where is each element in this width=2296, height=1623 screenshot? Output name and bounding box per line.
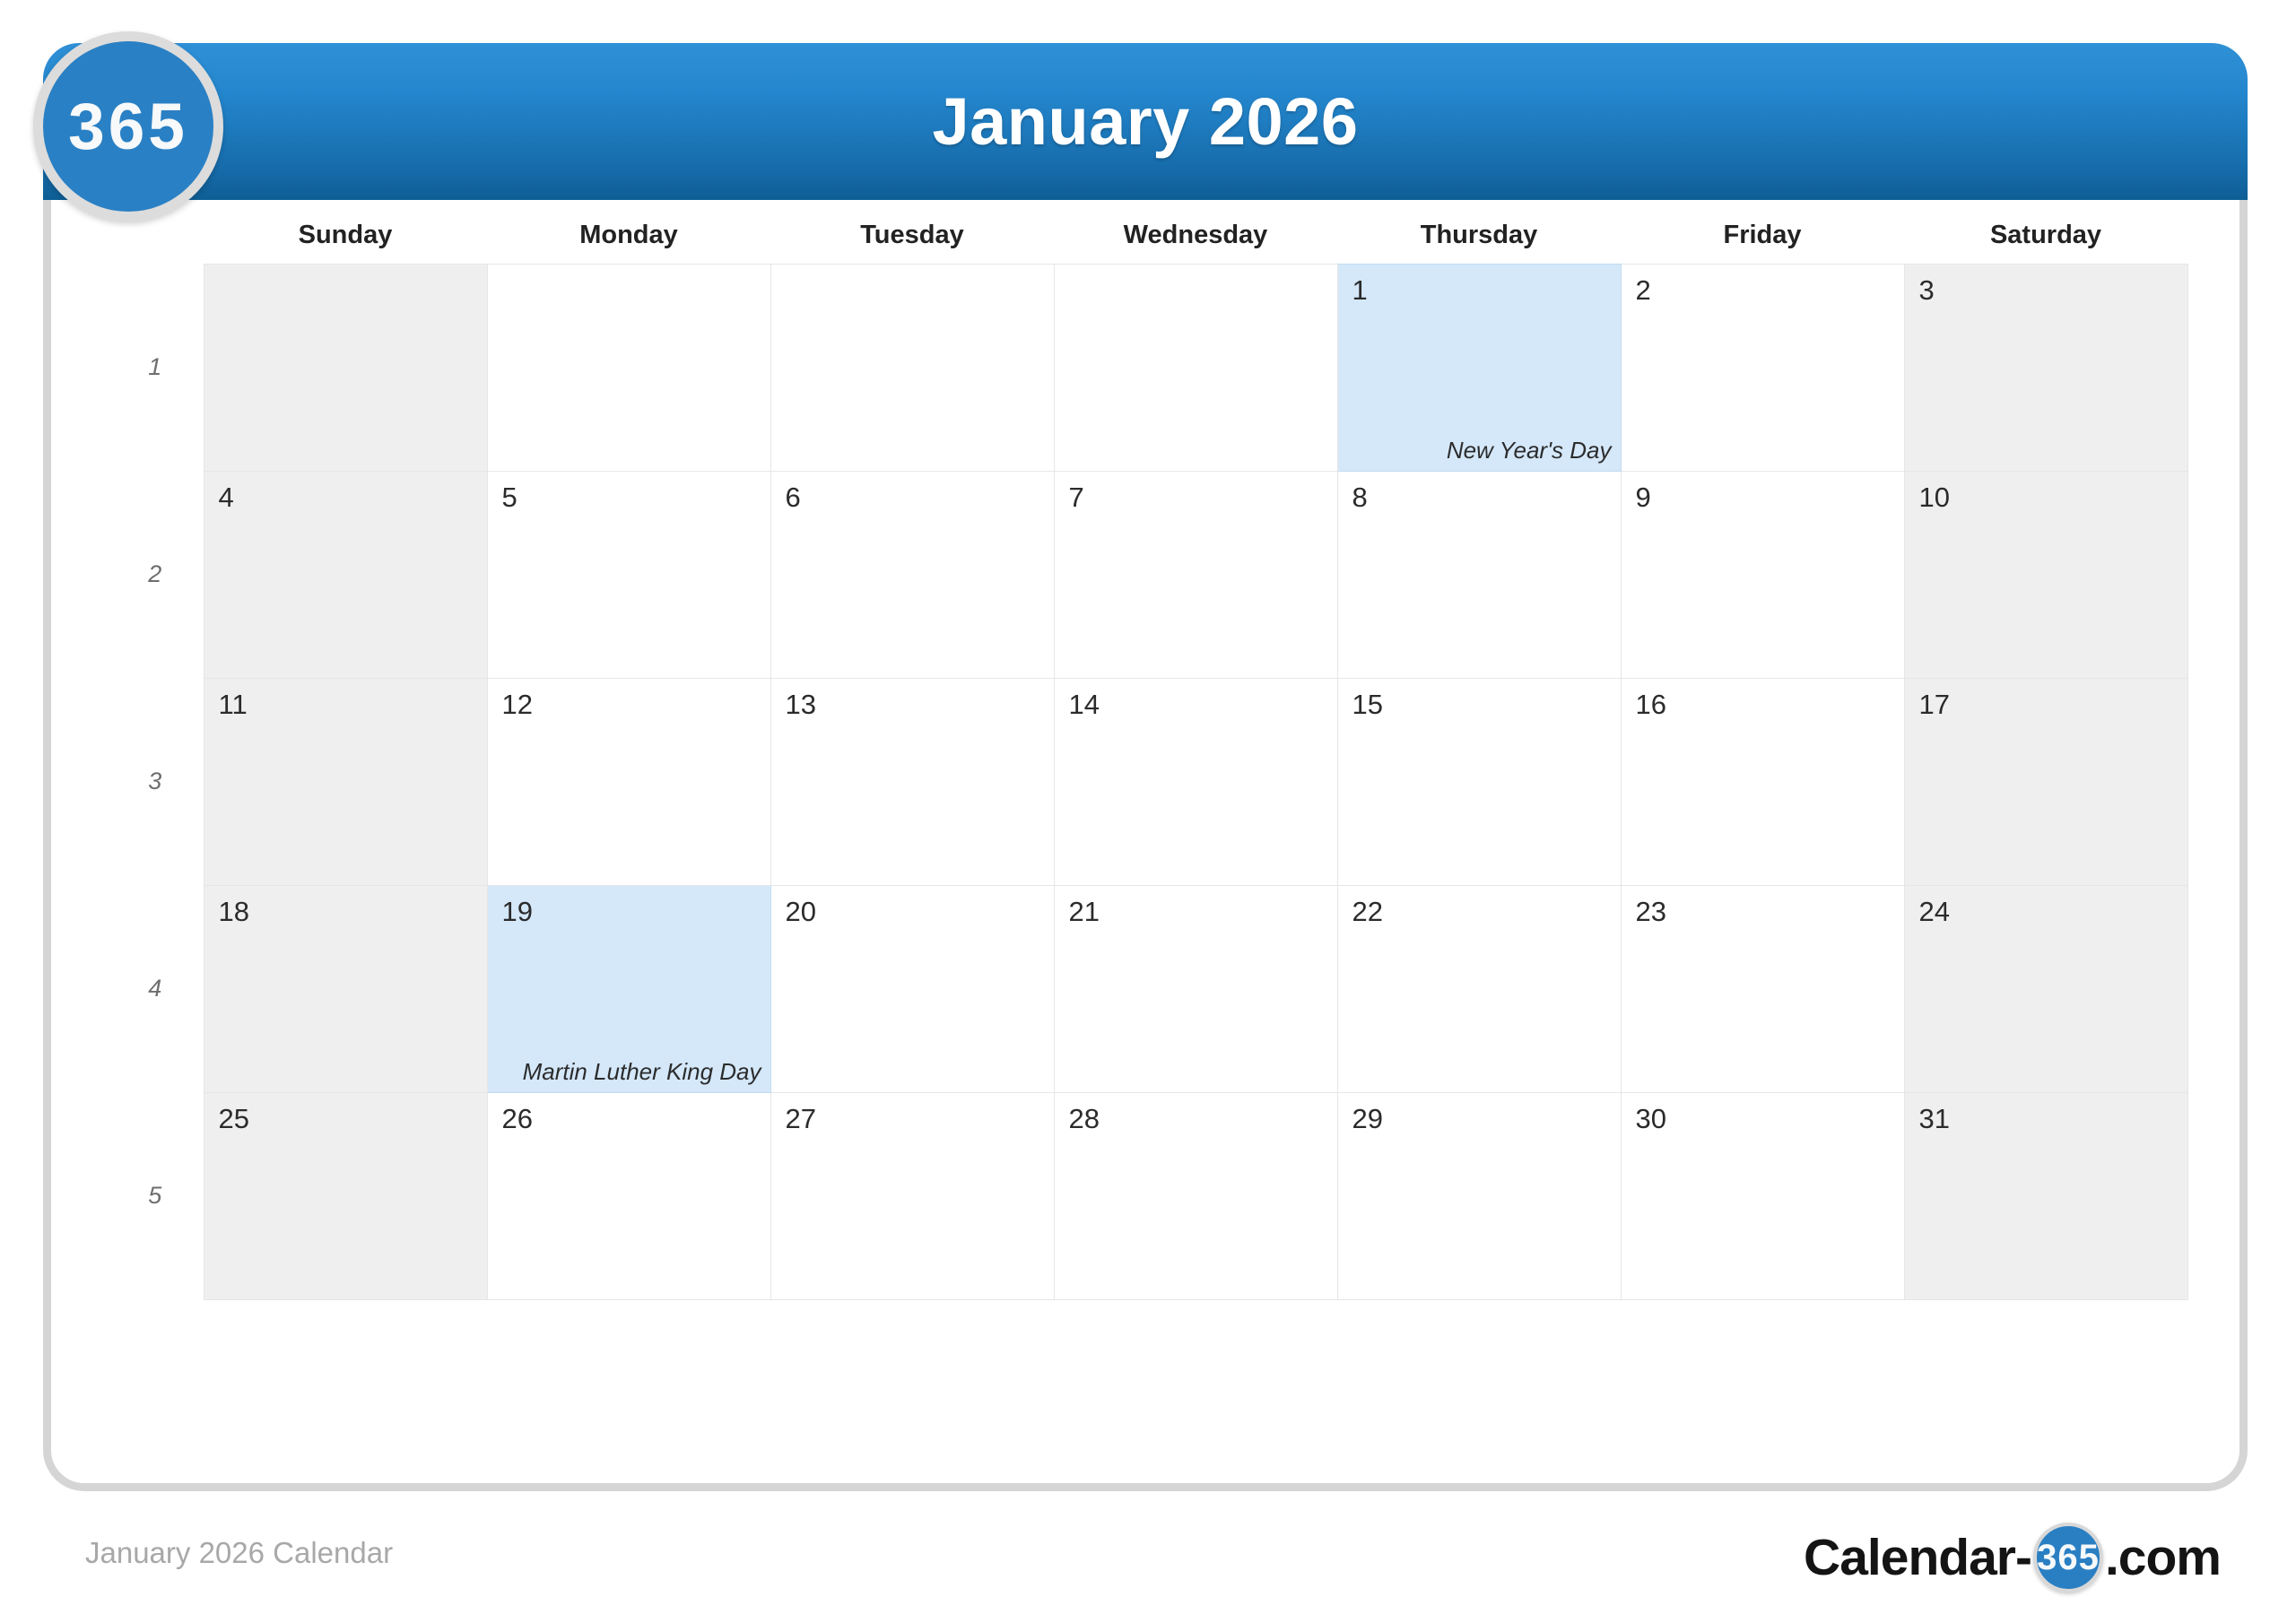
day-cell[interactable]: 8 xyxy=(1337,471,1621,678)
day-cell[interactable]: 4 xyxy=(204,471,487,678)
day-number: 4 xyxy=(219,482,234,514)
day-cell[interactable]: 15 xyxy=(1337,678,1621,885)
month-header-banner: January 2026 xyxy=(43,43,2248,200)
day-number: 11 xyxy=(219,689,248,721)
day-number: 10 xyxy=(1919,482,1950,514)
holiday-label: Martin Luther King Day xyxy=(523,1058,761,1086)
day-cell[interactable]: 28 xyxy=(1054,1092,1337,1299)
day-cell[interactable]: 22 xyxy=(1337,885,1621,1092)
365-logo-badge[interactable]: 365 xyxy=(33,31,223,221)
calendar-week-row: 311121314151617 xyxy=(107,678,2187,885)
day-number: 18 xyxy=(219,896,249,928)
day-cell[interactable]: 30 xyxy=(1621,1092,1904,1299)
day-number: 22 xyxy=(1352,896,1383,928)
day-cell[interactable]: 26 xyxy=(487,1092,770,1299)
weekday-header-sunday: Sunday xyxy=(204,208,487,264)
calendar-week-row: 41819Martin Luther King Day2021222324 xyxy=(107,885,2187,1092)
day-number: 13 xyxy=(786,689,816,721)
day-number: 8 xyxy=(1352,482,1368,514)
day-cell[interactable]: 19Martin Luther King Day xyxy=(487,885,770,1092)
day-cell-empty xyxy=(204,264,487,471)
day-cell[interactable]: 5 xyxy=(487,471,770,678)
calendar-grid: SundayMondayTuesdayWednesdayThursdayFrid… xyxy=(107,208,2188,1300)
day-number: 15 xyxy=(1352,689,1383,721)
day-cell[interactable]: 18 xyxy=(204,885,487,1092)
week-number: 1 xyxy=(107,264,204,471)
weekday-header-tuesday: Tuesday xyxy=(770,208,1054,264)
day-number: 9 xyxy=(1636,482,1651,514)
day-number: 2 xyxy=(1636,274,1651,307)
day-number: 20 xyxy=(786,896,816,928)
calendar-body: 365 SundayMondayTuesdayWednesdayThursday… xyxy=(51,208,2239,1483)
day-number: 17 xyxy=(1919,689,1950,721)
day-cell[interactable]: 2 xyxy=(1621,264,1904,471)
page-title: January 2026 xyxy=(932,83,1358,160)
day-number: 14 xyxy=(1069,689,1100,721)
day-number: 28 xyxy=(1069,1103,1100,1135)
calendar-week-row: 525262728293031 xyxy=(107,1092,2187,1299)
day-number: 23 xyxy=(1636,896,1666,928)
day-number: 19 xyxy=(502,896,533,928)
day-cell[interactable]: 3 xyxy=(1904,264,2187,471)
site-logo-365-badge: 365 xyxy=(2033,1523,2103,1593)
calendar-page: January 2026 365 365 SundayMondayTuesday… xyxy=(0,0,2296,1623)
day-number: 24 xyxy=(1919,896,1950,928)
day-cell[interactable]: 9 xyxy=(1621,471,1904,678)
site-logo[interactable]: Calendar- 365 .com xyxy=(1804,1522,2221,1593)
calendar-header-row: SundayMondayTuesdayWednesdayThursdayFrid… xyxy=(107,208,2187,264)
day-cell[interactable]: 14 xyxy=(1054,678,1337,885)
footer-caption: January 2026 Calendar xyxy=(85,1536,393,1570)
day-cell[interactable]: 24 xyxy=(1904,885,2187,1092)
day-cell[interactable]: 12 xyxy=(487,678,770,885)
day-cell-empty xyxy=(1054,264,1337,471)
site-logo-badge-label: 365 xyxy=(2037,1538,2100,1578)
weekday-header-saturday: Saturday xyxy=(1904,208,2187,264)
day-cell-empty xyxy=(770,264,1054,471)
day-cell[interactable]: 13 xyxy=(770,678,1054,885)
day-number: 21 xyxy=(1069,896,1100,928)
day-cell[interactable]: 16 xyxy=(1621,678,1904,885)
day-cell-empty xyxy=(487,264,770,471)
365-logo-badge-label: 365 xyxy=(68,90,188,164)
day-cell[interactable]: 29 xyxy=(1337,1092,1621,1299)
page-footer: January 2026 Calendar Calendar- 365 .com xyxy=(0,1520,2296,1623)
day-number: 6 xyxy=(786,482,801,514)
day-number: 27 xyxy=(786,1103,816,1135)
day-number: 3 xyxy=(1919,274,1935,307)
day-cell[interactable]: 25 xyxy=(204,1092,487,1299)
day-number: 31 xyxy=(1919,1103,1950,1135)
day-number: 30 xyxy=(1636,1103,1666,1135)
day-number: 5 xyxy=(502,482,517,514)
week-number: 4 xyxy=(107,885,204,1092)
day-cell[interactable]: 6 xyxy=(770,471,1054,678)
weekday-header-friday: Friday xyxy=(1621,208,1904,264)
day-cell[interactable]: 17 xyxy=(1904,678,2187,885)
week-number: 3 xyxy=(107,678,204,885)
day-cell[interactable]: 1New Year's Day xyxy=(1337,264,1621,471)
day-number: 12 xyxy=(502,689,533,721)
day-cell[interactable]: 27 xyxy=(770,1092,1054,1299)
day-cell[interactable]: 11 xyxy=(204,678,487,885)
day-cell[interactable]: 10 xyxy=(1904,471,2187,678)
day-number: 26 xyxy=(502,1103,533,1135)
day-number: 7 xyxy=(1069,482,1084,514)
weekday-header-thursday: Thursday xyxy=(1337,208,1621,264)
week-number: 2 xyxy=(107,471,204,678)
calendar-week-row: 245678910 xyxy=(107,471,2187,678)
day-cell[interactable]: 31 xyxy=(1904,1092,2187,1299)
day-number: 29 xyxy=(1352,1103,1383,1135)
calendar-card: January 2026 365 365 SundayMondayTuesday… xyxy=(43,43,2248,1491)
day-number: 16 xyxy=(1636,689,1666,721)
day-cell[interactable]: 23 xyxy=(1621,885,1904,1092)
site-logo-suffix: .com xyxy=(2105,1528,2221,1587)
holiday-label: New Year's Day xyxy=(1447,437,1612,464)
calendar-weeks: 11New Year's Day232456789103111213141516… xyxy=(107,264,2187,1299)
weekday-header-wednesday: Wednesday xyxy=(1054,208,1337,264)
day-cell[interactable]: 7 xyxy=(1054,471,1337,678)
day-cell[interactable]: 21 xyxy=(1054,885,1337,1092)
day-cell[interactable]: 20 xyxy=(770,885,1054,1092)
week-number: 5 xyxy=(107,1092,204,1299)
day-number: 25 xyxy=(219,1103,249,1135)
calendar-week-row: 11New Year's Day23 xyxy=(107,264,2187,471)
site-logo-prefix: Calendar- xyxy=(1804,1528,2031,1587)
weekday-header-monday: Monday xyxy=(487,208,770,264)
calendar-grid-wrap: SundayMondayTuesdayWednesdayThursdayFrid… xyxy=(51,208,2239,1300)
day-number: 1 xyxy=(1352,274,1368,307)
